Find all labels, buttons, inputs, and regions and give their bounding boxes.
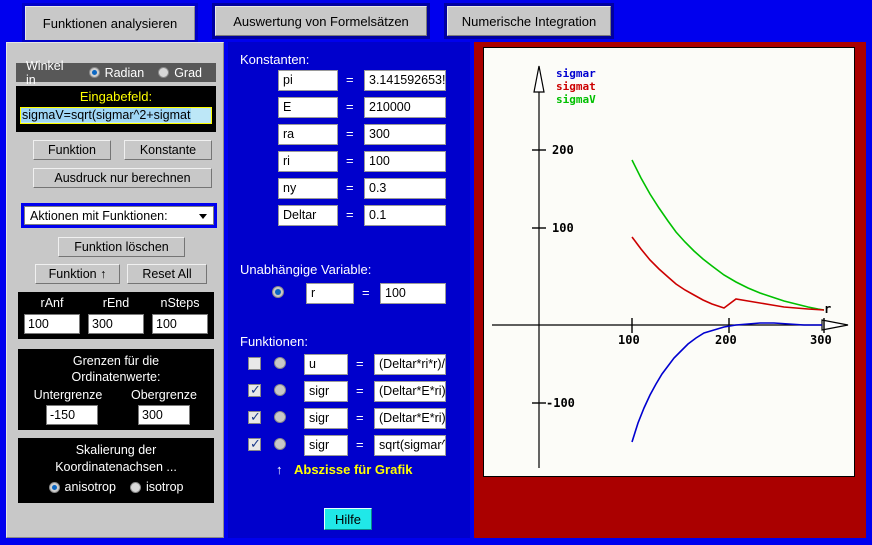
constant-value-ny[interactable]: 0.3	[364, 178, 446, 199]
radio-independent-variable[interactable]	[272, 286, 284, 298]
funktionen-label: Funktionen:	[240, 334, 308, 349]
ordinate-title-line1: Grenzen für die	[18, 354, 214, 368]
function-abscissa-radio[interactable]	[274, 357, 286, 369]
abscissa-up-arrow-icon: ↑	[276, 462, 283, 477]
x-tick-label-300: 300	[810, 333, 832, 347]
equals-sign: =	[362, 285, 370, 300]
funktion-button[interactable]: Funktion	[33, 140, 111, 160]
chevron-down-icon	[199, 214, 207, 219]
function-name-sigmar[interactable]: sigr	[304, 381, 348, 402]
nsteps-input[interactable]: 100	[152, 314, 208, 334]
radio-isotrop-label: isotrop	[146, 480, 184, 494]
equals-sign: =	[356, 356, 364, 371]
angle-unit-group: Winkel in Radian Grad	[16, 63, 216, 82]
x-axis-arrowhead	[822, 320, 848, 330]
x-tick-label-100: 100	[618, 333, 640, 347]
tab-label: Funktionen analysieren	[25, 6, 195, 40]
radio-radian-label: Radian	[105, 66, 145, 80]
equals-sign: =	[346, 126, 354, 141]
function-enable-checkbox[interactable]	[248, 438, 261, 451]
abscissa-hint-label: Abszisse für Grafik	[294, 462, 413, 477]
function-abscissa-radio[interactable]	[274, 411, 286, 423]
radio-anisotrop-label: anisotrop	[65, 480, 116, 494]
constant-value-e[interactable]: 210000	[364, 97, 446, 118]
radio-grad-label: Grad	[174, 66, 202, 80]
left-control-panel: Winkel in Radian Grad Eingabefeld: sigma…	[6, 42, 224, 538]
expression-input[interactable]: sigmaV=sqrt(sigmar^2+sigmat	[20, 107, 212, 124]
konstante-button[interactable]: Konstante	[124, 140, 212, 160]
tab-label: Numerische Integration	[447, 6, 611, 36]
radio-grad[interactable]	[158, 67, 169, 78]
constant-name-e[interactable]: E	[278, 97, 338, 118]
legend-item-sigmar: sigmar	[556, 67, 596, 80]
aktionen-mit-funktionen-select[interactable]: Aktionen mit Funktionen:	[24, 206, 214, 225]
function-formula-u[interactable]: (Deltar*ri*r)/[(	[374, 354, 446, 375]
independent-variable-name[interactable]: r	[306, 283, 354, 304]
ausdruck-nur-berechnen-button[interactable]: Ausdruck nur berechnen	[33, 168, 212, 188]
application-window: Funktionen analysieren Auswertung von Fo…	[0, 0, 872, 545]
equals-sign: =	[346, 153, 354, 168]
independent-variable-label: Unabhängige Variable:	[240, 262, 371, 277]
hilfe-button[interactable]: Hilfe	[324, 508, 372, 530]
equals-sign: =	[346, 180, 354, 195]
series-sigmaV	[632, 160, 824, 310]
function-enable-checkbox[interactable]	[248, 357, 261, 370]
scaling-title-line2: Koordinatenachsen ...	[18, 460, 214, 474]
obergrenze-label: Obergrenze	[118, 388, 210, 402]
tab-numerische-integration[interactable]: Numerische Integration	[444, 3, 614, 39]
untergrenze-label: Untergrenze	[22, 388, 114, 402]
ordinate-limits-box: Grenzen für die Ordinatenwerte: Untergre…	[18, 349, 214, 430]
nsteps-label: nSteps	[152, 296, 208, 310]
constant-value-deltar[interactable]: 0.1	[364, 205, 446, 226]
constant-name-deltar[interactable]: Deltar	[278, 205, 338, 226]
tab-auswertung-von-formelsaetzen[interactable]: Auswertung von Formelsätzen	[212, 3, 430, 39]
equals-sign: =	[356, 437, 364, 452]
function-enable-checkbox[interactable]	[248, 411, 261, 424]
rend-label: rEnd	[88, 296, 144, 310]
equals-sign: =	[346, 99, 354, 114]
expression-input-text: sigmaV=sqrt(sigmar^2+sigmat	[21, 108, 191, 122]
angle-unit-label: Winkel in	[26, 59, 77, 87]
text-caret	[101, 123, 108, 124]
input-field-box: Eingabefeld: sigmaV=sqrt(sigmar^2+sigmat	[16, 86, 216, 132]
y-axis-arrowhead	[534, 66, 544, 92]
legend-item-sigmat: sigmat	[556, 80, 596, 93]
untergrenze-input[interactable]: -150	[46, 405, 98, 425]
funktion-up-button[interactable]: Funktion ↑	[35, 264, 120, 284]
x-tick-label-200: 200	[715, 333, 737, 347]
plot-outer-panel: sigmar sigmat sigmaV 200 100 -100 100 20…	[474, 42, 866, 538]
scaling-options: anisotrop isotrop	[18, 480, 214, 494]
ranf-label: rAnf	[24, 296, 80, 310]
independent-variable-value[interactable]: 100	[380, 283, 446, 304]
range-box: rAnf rEnd nSteps 100 300 100	[18, 292, 214, 339]
tab-label: Auswertung von Formelsätzen	[215, 6, 427, 36]
ordinate-title-line2: Ordinatenwerte:	[18, 370, 214, 384]
rend-input[interactable]: 300	[88, 314, 144, 334]
ranf-input[interactable]: 100	[24, 314, 80, 334]
function-name-sigmav[interactable]: sigr	[304, 435, 348, 456]
radio-isotrop[interactable]	[130, 482, 141, 493]
tab-funktionen-analysieren[interactable]: Funktionen analysieren	[22, 3, 198, 43]
function-plot-canvas[interactable]: sigmar sigmat sigmaV 200 100 -100 100 20…	[483, 47, 855, 477]
equals-sign: =	[356, 410, 364, 425]
reset-all-button[interactable]: Reset All	[127, 264, 207, 284]
function-enable-checkbox[interactable]	[248, 384, 261, 397]
obergrenze-input[interactable]: 300	[138, 405, 190, 425]
radio-anisotrop[interactable]	[49, 482, 60, 493]
function-abscissa-radio[interactable]	[274, 384, 286, 396]
radio-radian[interactable]	[89, 67, 100, 78]
function-name-u[interactable]: u	[304, 354, 348, 375]
middle-formula-panel: Konstanten: pi = 3.141592653! E = 210000…	[228, 42, 470, 538]
input-field-title: Eingabefeld:	[16, 86, 216, 104]
series-sigmat	[632, 237, 824, 310]
function-formula-sigmar[interactable]: (Deltar*E*ri)/	[374, 381, 446, 402]
constant-value-pi[interactable]: 3.141592653!	[364, 70, 446, 91]
function-formula-sigmav[interactable]: sqrt(sigmar^	[374, 435, 446, 456]
constant-name-ri[interactable]: ri	[278, 151, 338, 172]
function-name-sigmat[interactable]: sigr	[304, 408, 348, 429]
konstanten-label: Konstanten:	[240, 52, 309, 67]
scaling-box: Skalierung der Koordinatenachsen ... ani…	[18, 438, 214, 503]
aktionen-combo-label: Aktionen mit Funktionen:	[30, 209, 168, 223]
constant-name-pi[interactable]: pi	[278, 70, 338, 91]
constant-value-ri[interactable]: 100	[364, 151, 446, 172]
plot-svg	[484, 48, 855, 477]
equals-sign: =	[346, 207, 354, 222]
equals-sign: =	[346, 72, 354, 87]
legend-item-sigmaV: sigmaV	[556, 93, 596, 106]
funktion-loeschen-button[interactable]: Funktion löschen	[58, 237, 185, 257]
constant-name-ra[interactable]: ra	[278, 124, 338, 145]
constant-name-ny[interactable]: ny	[278, 178, 338, 199]
x-axis-label: r	[824, 302, 831, 316]
scaling-title-line1: Skalierung der	[18, 443, 214, 457]
tab-bar: Funktionen analysieren Auswertung von Fo…	[0, 0, 872, 42]
aktionen-combo-wrapper: Aktionen mit Funktionen:	[21, 203, 217, 228]
function-formula-sigmat[interactable]: (Deltar*E*ri)/	[374, 408, 446, 429]
function-abscissa-radio[interactable]	[274, 438, 286, 450]
constant-value-ra[interactable]: 300	[364, 124, 446, 145]
y-tick-label-200: 200	[552, 143, 574, 157]
equals-sign: =	[356, 383, 364, 398]
y-tick-label-minus100: -100	[546, 396, 575, 410]
y-tick-label-100: 100	[552, 221, 574, 235]
